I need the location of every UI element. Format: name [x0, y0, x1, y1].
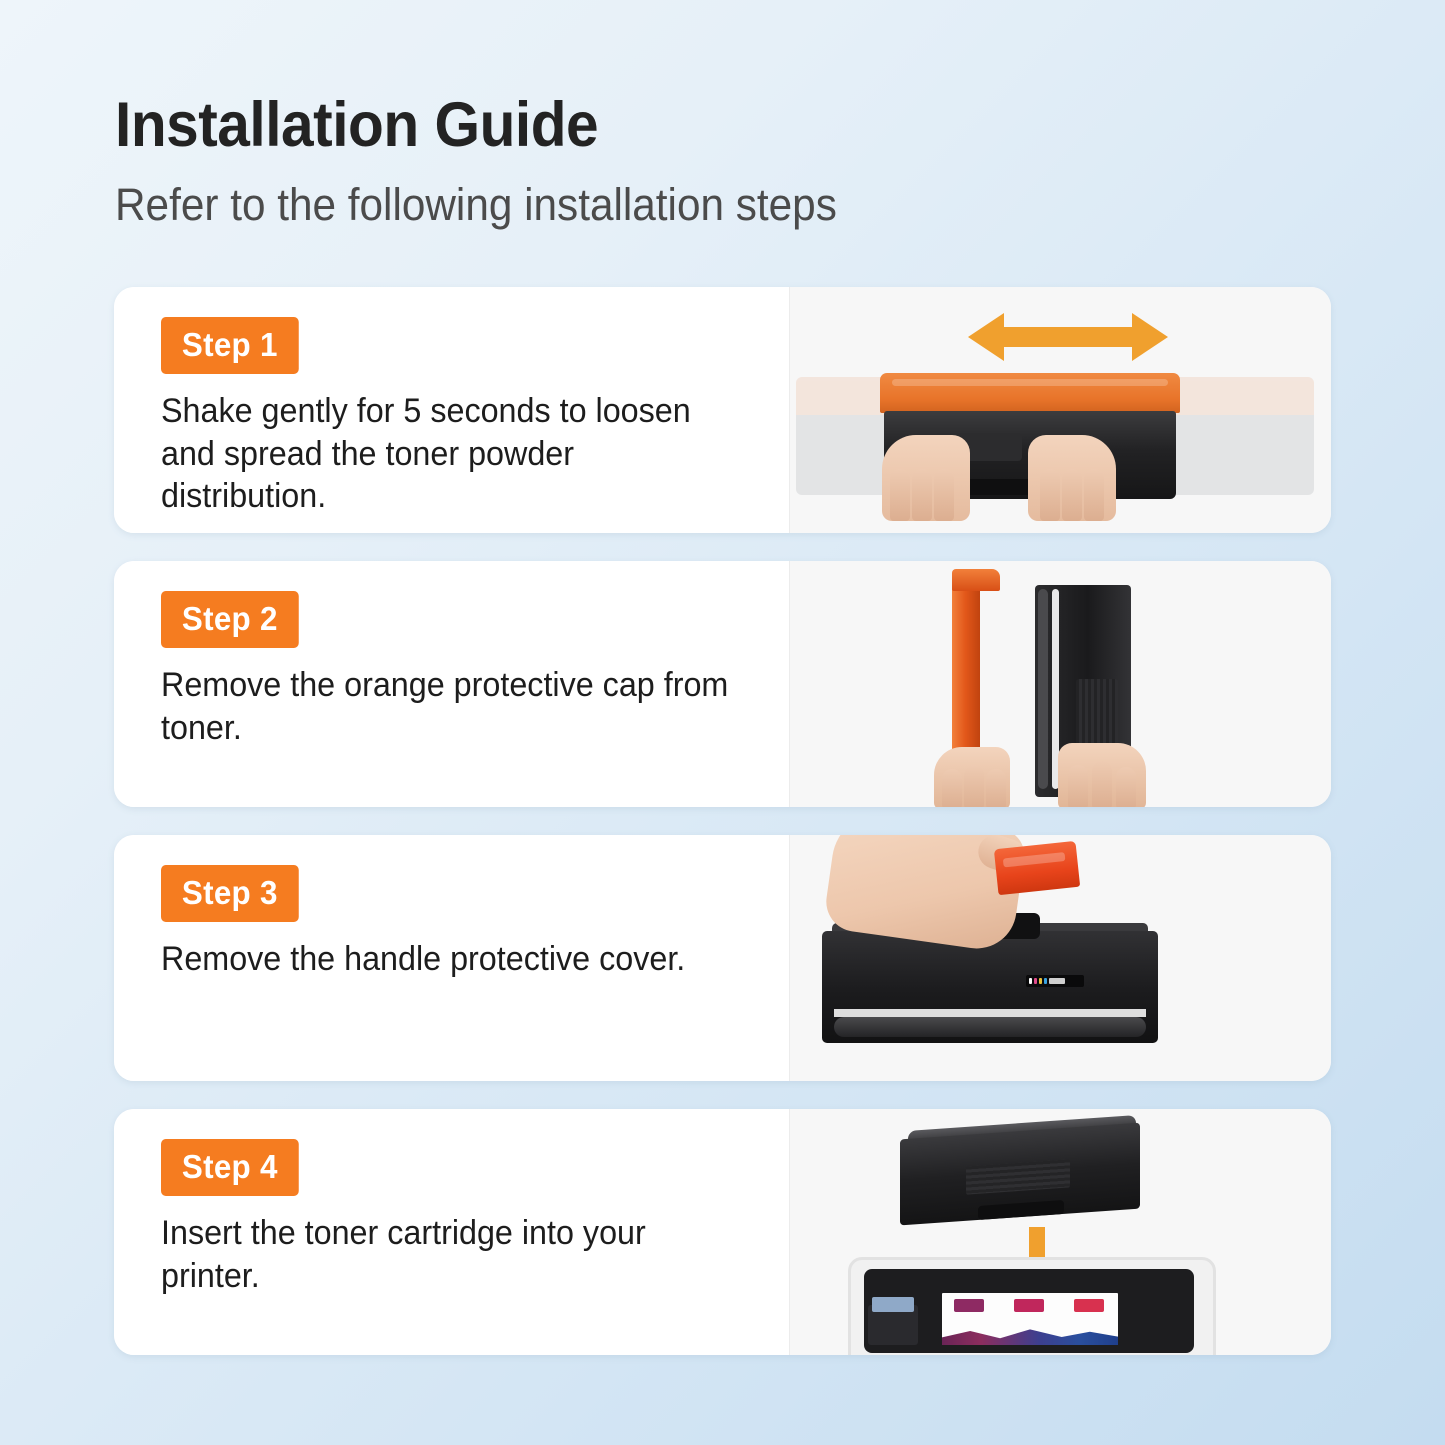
- step-4-image-pane: [789, 1109, 1331, 1355]
- step-3-description: Remove the handle protective cover.: [161, 938, 731, 981]
- step-4-badge: Step 4: [161, 1139, 299, 1196]
- page-subtitle: Refer to the following installation step…: [115, 180, 1271, 230]
- step-1-image-pane: [789, 287, 1331, 533]
- orange-handle-protective-cover: [994, 841, 1080, 895]
- cartridge-vent: [1076, 679, 1118, 745]
- product-label: [1026, 975, 1084, 987]
- drum-roller: [834, 1017, 1146, 1037]
- printed-page: [942, 1293, 1118, 1345]
- step-4-description: Insert the toner cartridge into your pri…: [161, 1212, 731, 1297]
- step-2-badge: Step 2: [161, 591, 299, 648]
- step-3-badge: Step 3: [161, 865, 299, 922]
- page-header: Installation Guide Refer to the followin…: [115, 92, 1345, 230]
- step-3-image-pane: [789, 835, 1331, 1081]
- steps-list: Step 1 Shake gently for 5 seconds to loo…: [114, 287, 1331, 1383]
- double-headed-horizontal-arrow-icon: [968, 309, 1168, 365]
- orange-cap-hook: [952, 569, 1000, 591]
- page-title: Installation Guide: [115, 92, 1259, 158]
- step-2-image-pane: [789, 561, 1331, 807]
- right-hand: [1028, 435, 1116, 521]
- right-hand: [1058, 743, 1146, 807]
- cartridge-white-strip: [834, 1009, 1146, 1017]
- step-card-3: Step 3 Remove the handle protective cove…: [114, 835, 1331, 1081]
- drum-roller: [1038, 589, 1048, 789]
- step-card-1: Step 1 Shake gently for 5 seconds to loo…: [114, 287, 1331, 533]
- printer-display-screen: [872, 1297, 914, 1312]
- step-4-text-pane: Step 4 Insert the toner cartridge into y…: [114, 1109, 789, 1355]
- left-hand: [882, 435, 970, 521]
- step-1-text-pane: Step 1 Shake gently for 5 seconds to loo…: [114, 287, 789, 533]
- step-2-text-pane: Step 2 Remove the orange protective cap …: [114, 561, 789, 807]
- orange-protective-cap: [952, 579, 980, 775]
- step-1-badge: Step 1: [161, 317, 299, 374]
- step-3-text-pane: Step 3 Remove the handle protective cove…: [114, 835, 789, 1081]
- step-2-description: Remove the orange protective cap from to…: [161, 664, 731, 749]
- step-card-2: Step 2 Remove the orange protective cap …: [114, 561, 1331, 807]
- left-hand: [934, 747, 1010, 807]
- step-card-4: Step 4 Insert the toner cartridge into y…: [114, 1109, 1331, 1355]
- orange-top-cover: [880, 373, 1180, 413]
- step-1-description: Shake gently for 5 seconds to loosen and…: [161, 390, 731, 518]
